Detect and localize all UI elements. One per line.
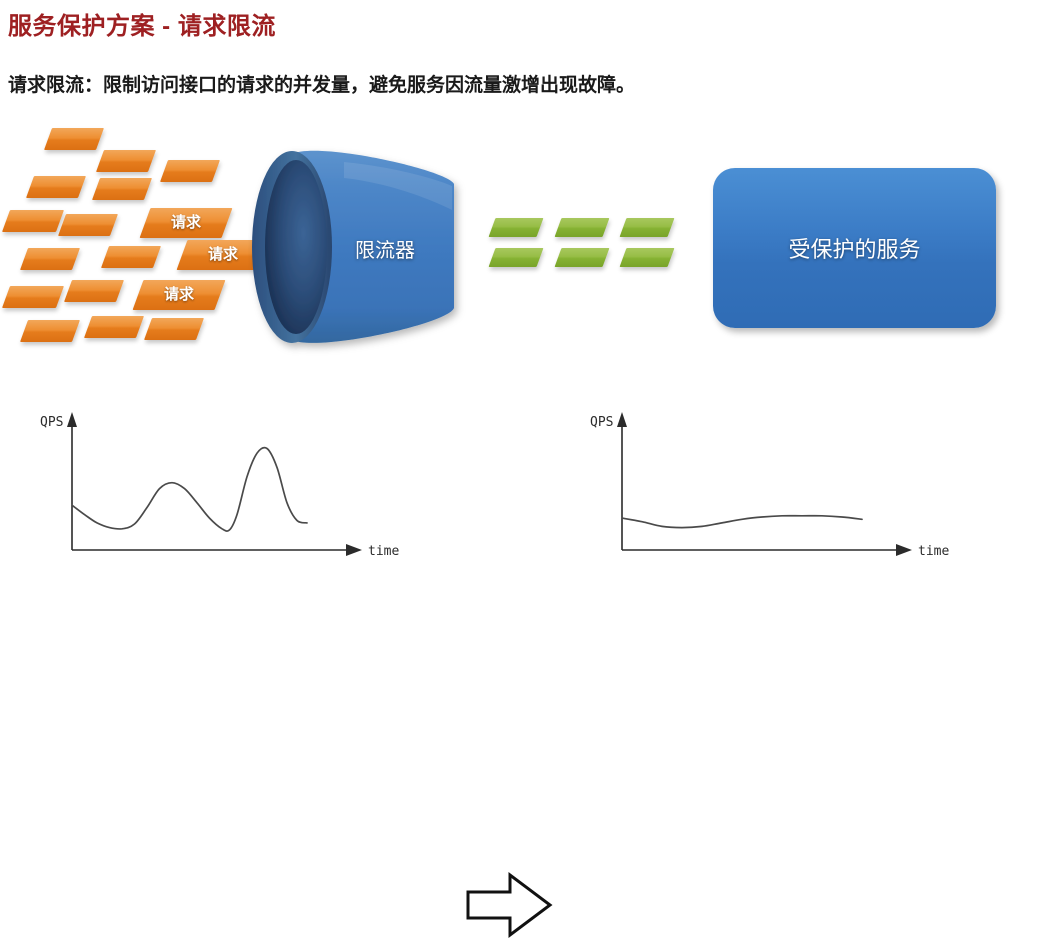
allowed-request-block (489, 218, 544, 237)
chart-before-yaxis-arrowhead (67, 412, 77, 427)
protected-service-box: 受保护的服务 (713, 168, 996, 328)
chart-after-yaxis-arrowhead (617, 412, 627, 427)
request-block (84, 316, 144, 338)
page-title: 服务保护方案 - 请求限流 (8, 6, 276, 41)
request-block (26, 176, 86, 198)
request-block-label: 请求 (145, 208, 227, 238)
protected-service-label: 受保护的服务 (788, 232, 920, 264)
chart-before-series (72, 448, 307, 532)
request-block-labeled: 请求 (133, 280, 226, 310)
chart-before-ylabel: QPS (40, 415, 63, 430)
rate-limiter-funnel: 限流器 (248, 136, 468, 361)
chart-after-rate-limit: QPS time (580, 400, 980, 581)
allowed-request-block (555, 218, 610, 237)
request-block (64, 280, 124, 302)
allowed-request-block (489, 248, 544, 267)
request-block (160, 160, 220, 182)
request-block (92, 178, 152, 200)
chart-after-xlabel: time (918, 544, 949, 559)
request-block (144, 318, 204, 340)
funnel-mouth (265, 160, 327, 334)
request-block (2, 210, 64, 232)
qps-comparison: QPS time QPS time (0, 400, 1041, 581)
rate-limit-diagram: 请求请求请求 (0, 118, 1041, 388)
chart-after-xaxis-arrowhead (896, 544, 912, 556)
request-block (2, 286, 64, 308)
chart-before-xaxis-arrowhead (346, 544, 362, 556)
request-block-label: 请求 (138, 280, 220, 310)
chart-after-series (622, 516, 862, 528)
allowed-request-block (555, 248, 610, 267)
slide-root: 服务保护方案 - 请求限流 请求限流：限制访问接口的请求的并发量，避免服务因流量… (0, 0, 1041, 581)
allowed-request-block (620, 218, 675, 237)
transition-arrow-icon (462, 870, 557, 940)
request-block (44, 128, 104, 150)
allowed-request-block (620, 248, 675, 267)
allowed-request-field (490, 218, 670, 298)
request-block (20, 320, 80, 342)
request-block (58, 214, 118, 236)
chart-before-rate-limit: QPS time (30, 400, 430, 581)
page-subtitle: 请求限流：限制访问接口的请求的并发量，避免服务因流量激增出现故障。 (8, 70, 635, 97)
chart-before-xlabel: time (368, 544, 399, 559)
chart-after-ylabel: QPS (590, 415, 613, 430)
request-block-labeled: 请求 (140, 208, 233, 238)
request-block (101, 246, 161, 268)
request-block (20, 248, 80, 270)
request-block (96, 150, 156, 172)
